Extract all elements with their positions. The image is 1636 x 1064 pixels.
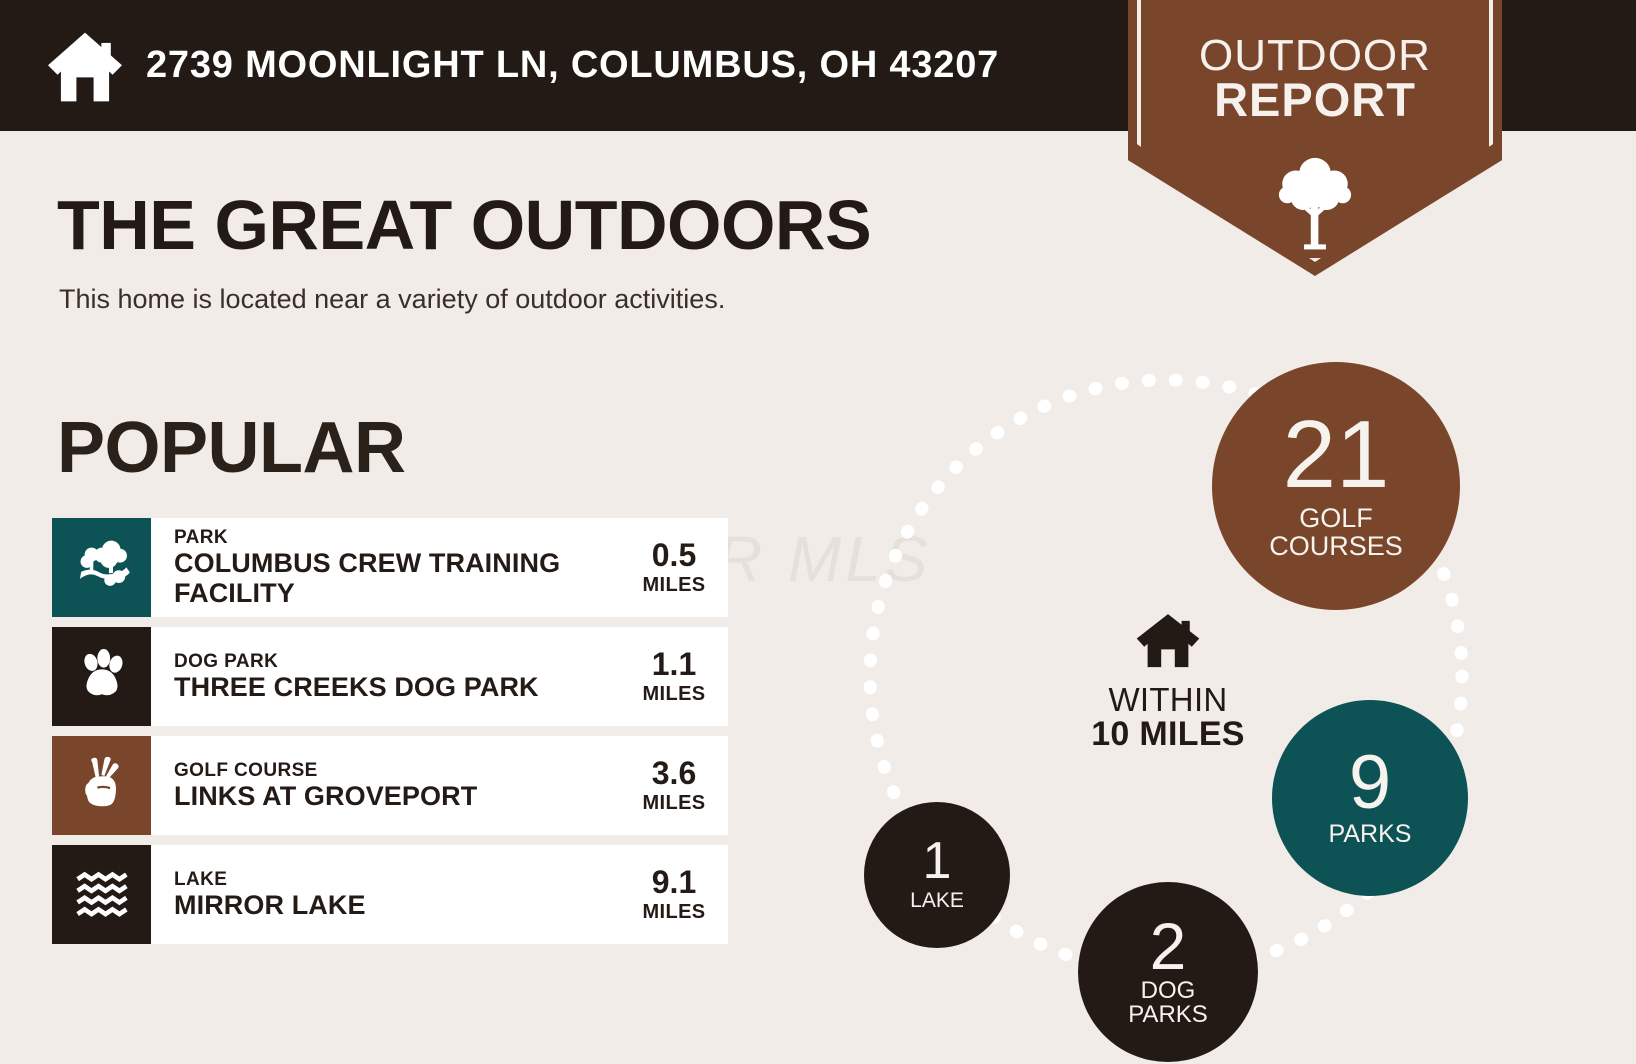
badge-line-1: OUTDOOR — [1128, 34, 1502, 77]
popular-amenities-list: PARK COLUMBUS CREW TRAINING FACILITY 0.5… — [52, 518, 728, 954]
amenity-category: LAKE — [174, 869, 366, 890]
popular-heading: POPULAR — [57, 412, 406, 484]
amenity-category: GOLF COURSE — [174, 760, 477, 781]
stat-value: 9 — [1349, 748, 1391, 818]
within-10-miles-diagram: WITHIN 10 MILES 21 GOLF COURSES 9 PARKS … — [820, 330, 1636, 1064]
home-icon — [1134, 610, 1202, 668]
center-caption-line-1: WITHIN — [1048, 683, 1288, 717]
amenity-body: DOG PARK THREE CREEKS DOG PARK — [151, 627, 632, 726]
outdoor-report-badge: OUTDOOR REPORT — [1128, 0, 1502, 276]
paw-print-icon — [73, 645, 131, 708]
stat-circle-parks[interactable]: 9 PARKS — [1272, 700, 1468, 896]
amenity-distance: 0.5 MILES — [632, 518, 728, 617]
tree-icon — [1273, 152, 1357, 248]
amenity-body: GOLF COURSE LINKS AT GROVEPORT — [151, 736, 632, 835]
page-title: THE GREAT OUTDOORS — [57, 190, 871, 260]
diagram-center: WITHIN 10 MILES — [1048, 610, 1288, 752]
distance-unit: MILES — [642, 574, 705, 597]
stat-value: 1 — [923, 838, 952, 886]
page-subtitle: This home is located near a variety of o… — [59, 284, 725, 315]
amenity-name: MIRROR LAKE — [174, 890, 366, 920]
water-waves-icon — [73, 863, 131, 926]
list-item[interactable]: DOG PARK THREE CREEKS DOG PARK 1.1 MILES — [52, 627, 728, 726]
list-item[interactable]: PARK COLUMBUS CREW TRAINING FACILITY 0.5… — [52, 518, 728, 617]
distance-unit: MILES — [642, 792, 705, 815]
distance-value: 1.1 — [652, 648, 696, 680]
stat-label-line-2: PARKS — [1128, 1001, 1208, 1028]
distance-value: 3.6 — [652, 757, 696, 789]
distance-unit: MILES — [642, 901, 705, 924]
stat-value: 2 — [1150, 916, 1187, 977]
stat-label: DOG PARKS — [1128, 979, 1208, 1028]
amenity-name: LINKS AT GROVEPORT — [174, 781, 477, 811]
stat-circle-lake[interactable]: 1 LAKE — [864, 802, 1010, 948]
amenity-distance: 3.6 MILES — [632, 736, 728, 835]
stat-label: LAKE — [910, 890, 964, 912]
amenity-name: THREE CREEKS DOG PARK — [174, 672, 539, 702]
center-caption-line-2: 10 MILES — [1048, 717, 1288, 752]
stat-value: 21 — [1283, 411, 1390, 499]
property-address: 2739 MOONLIGHT LN, COLUMBUS, OH 43207 — [146, 44, 999, 87]
badge-text: OUTDOOR REPORT — [1128, 34, 1502, 123]
amenity-icon-tile — [52, 845, 151, 944]
amenity-category: DOG PARK — [174, 651, 539, 672]
golf-bag-icon — [73, 754, 131, 817]
stat-label: PARKS — [1329, 822, 1412, 848]
amenity-body: PARK COLUMBUS CREW TRAINING FACILITY — [151, 518, 632, 617]
amenity-body: LAKE MIRROR LAKE — [151, 845, 632, 944]
distance-value: 9.1 — [652, 866, 696, 898]
stat-circle-golf-courses[interactable]: 21 GOLF COURSES — [1212, 362, 1460, 610]
amenity-name: COLUMBUS CREW TRAINING FACILITY — [174, 548, 626, 608]
stat-label-line-1: DOG — [1141, 977, 1196, 1004]
distance-unit: MILES — [642, 683, 705, 706]
badge-line-2: REPORT — [1128, 77, 1502, 123]
list-item[interactable]: GOLF COURSE LINKS AT GROVEPORT 3.6 MILES — [52, 736, 728, 835]
amenity-distance: 9.1 MILES — [632, 845, 728, 944]
amenity-icon-tile — [52, 627, 151, 726]
amenity-category: PARK — [174, 527, 626, 548]
park-trees-icon — [73, 536, 131, 599]
stat-circle-dog-parks[interactable]: 2 DOG PARKS — [1078, 882, 1258, 1062]
stat-label-line-2: COURSES — [1269, 531, 1403, 561]
distance-value: 0.5 — [652, 539, 696, 571]
amenity-icon-tile — [52, 518, 151, 617]
center-caption: WITHIN 10 MILES — [1048, 683, 1288, 751]
amenity-icon-tile — [52, 736, 151, 835]
stat-label-line-1: GOLF — [1299, 503, 1373, 533]
home-icon — [42, 24, 128, 108]
list-item[interactable]: LAKE MIRROR LAKE 9.1 MILES — [52, 845, 728, 944]
stat-label: GOLF COURSES — [1269, 505, 1403, 561]
amenity-distance: 1.1 MILES — [632, 627, 728, 726]
